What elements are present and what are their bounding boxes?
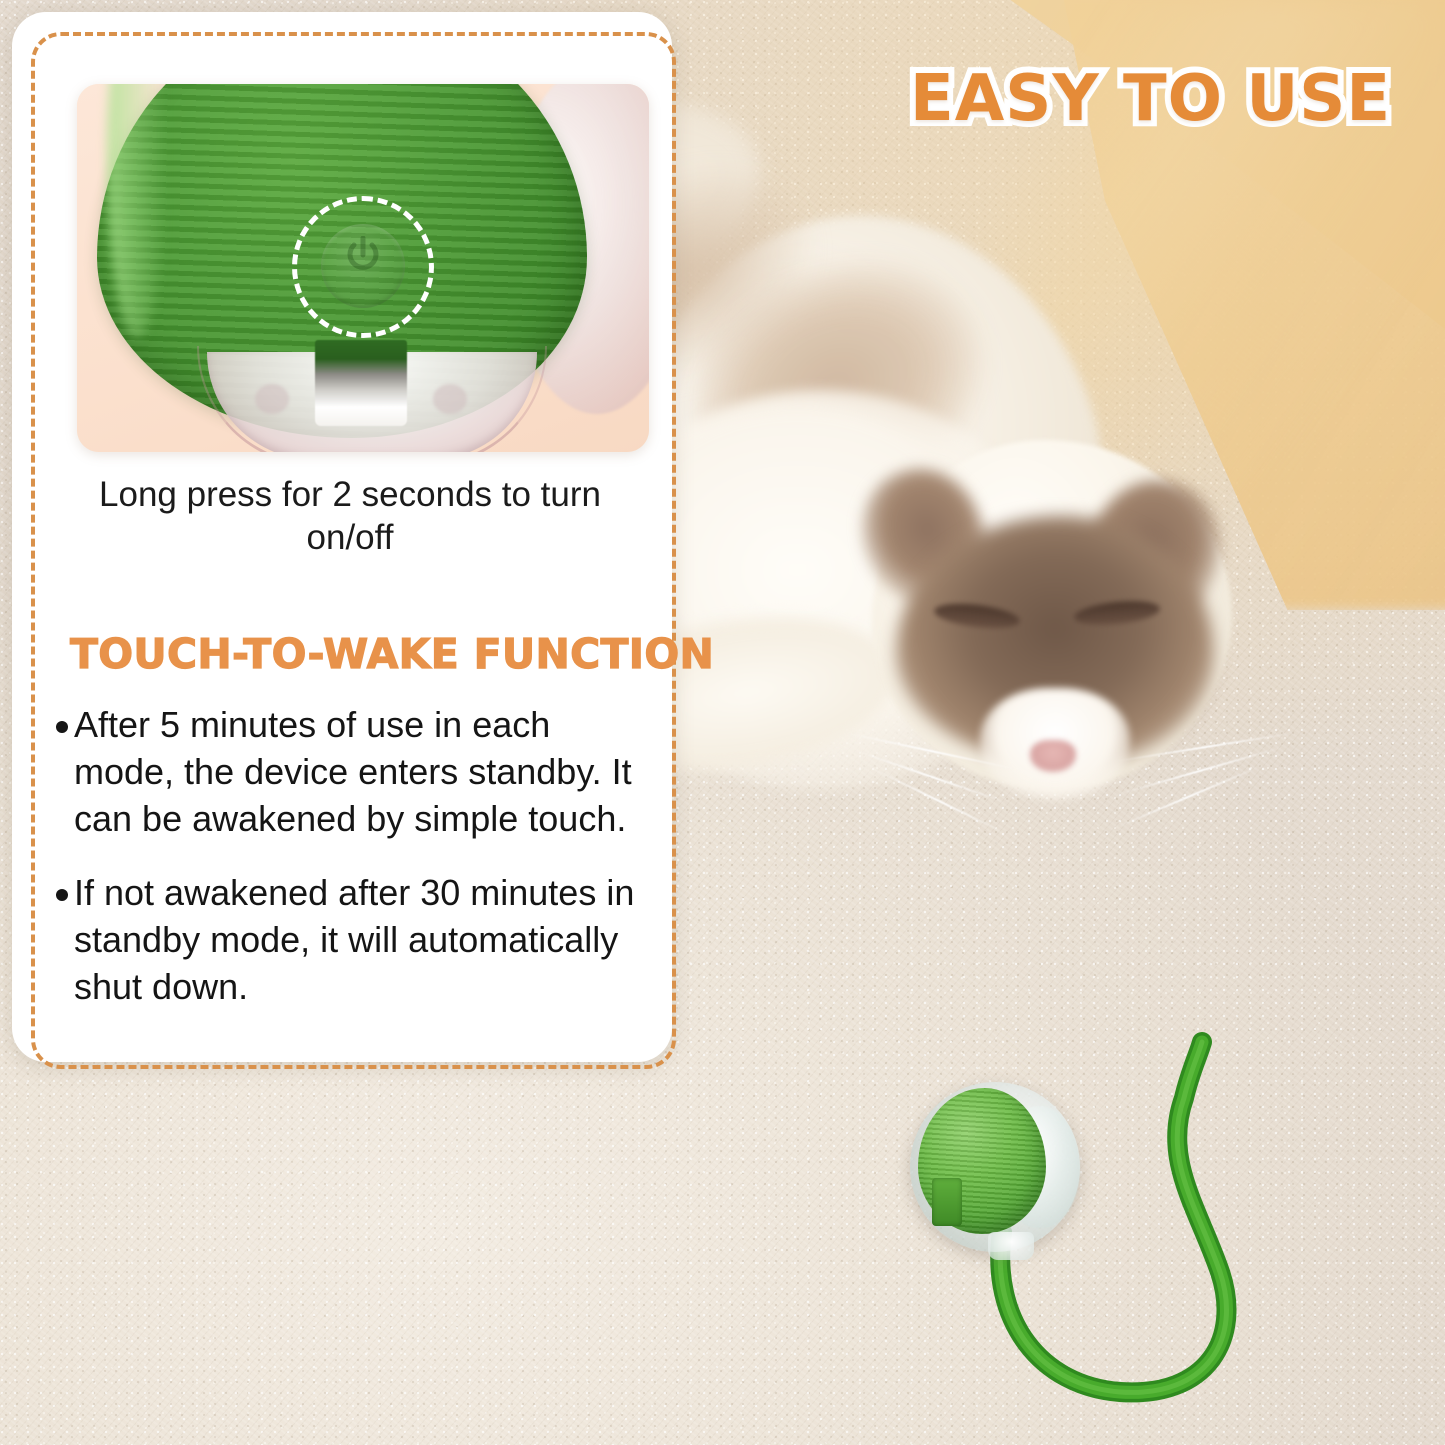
product-base-dot-left [255, 384, 289, 414]
cat-nose [1030, 740, 1076, 772]
cat-photo [596, 150, 1296, 970]
list-item: If not awakened after 30 minutes in stan… [56, 870, 656, 1010]
list-item-text: If not awakened after 30 minutes in stan… [74, 870, 656, 1010]
page-title: EASY TO USE [910, 62, 1391, 136]
list-item-text: After 5 minutes of use in each mode, the… [74, 702, 656, 842]
toy-photo [890, 1020, 1350, 1440]
product-charging-contact [315, 340, 407, 426]
product-shell-highlight [107, 84, 167, 338]
feature-bullet-list: After 5 minutes of use in each mode, the… [56, 702, 656, 1039]
toy-ball-tab [932, 1178, 962, 1226]
power-button-dashed-circle [292, 196, 434, 338]
section-heading: TOUCH-TO-WAKE FUNCTION [70, 630, 670, 678]
toy-ball [910, 1082, 1080, 1252]
product-base-dot-right [433, 384, 467, 414]
product-caption: Long press for 2 seconds to turn on/off [60, 474, 640, 559]
info-card: Long press for 2 seconds to turn on/off … [12, 12, 672, 1062]
bullet-dot-icon [56, 889, 68, 901]
product-detail-photo [77, 84, 649, 452]
power-button-highlight [292, 196, 434, 338]
toy-ball-port [988, 1232, 1034, 1260]
bullet-dot-icon [56, 721, 68, 733]
list-item: After 5 minutes of use in each mode, the… [56, 702, 656, 842]
